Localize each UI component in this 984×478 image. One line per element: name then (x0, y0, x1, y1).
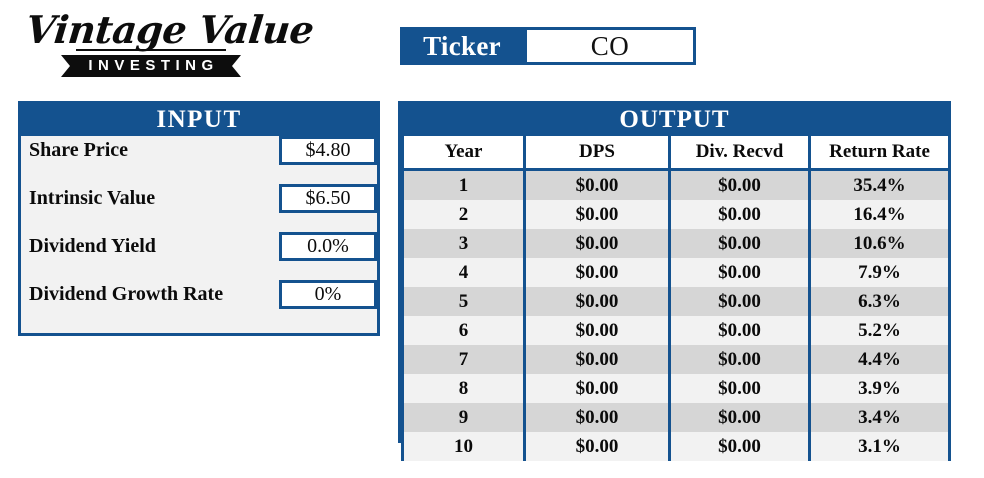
cell-dps: $0.00 (525, 229, 670, 258)
cell-div-recvd: $0.00 (670, 287, 810, 316)
table-row: 2$0.00$0.0016.4% (403, 200, 950, 229)
cell-dps: $0.00 (525, 374, 670, 403)
input-field-intrinsic-value[interactable]: $6.50 (279, 184, 377, 213)
cell-return-rate: 4.4% (810, 345, 950, 374)
logo-ribbon: INVESTING (26, 55, 276, 77)
cell-return-rate: 35.4% (810, 170, 950, 201)
cell-return-rate: 3.4% (810, 403, 950, 432)
table-row: 7$0.00$0.004.4% (403, 345, 950, 374)
cell-year: 4 (403, 258, 525, 287)
table-row: 1$0.00$0.0035.4% (403, 170, 950, 201)
input-row-dividend-yield: Dividend Yield 0.0% (21, 232, 377, 280)
cell-return-rate: 16.4% (810, 200, 950, 229)
input-label-dividend-growth-rate: Dividend Growth Rate (21, 280, 279, 309)
input-row-dividend-growth-rate: Dividend Growth Rate 0% (21, 280, 377, 328)
table-row: 10$0.00$0.003.1% (403, 432, 950, 461)
input-panel-title: INPUT (21, 104, 377, 136)
table-row: 3$0.00$0.0010.6% (403, 229, 950, 258)
cell-year: 8 (403, 374, 525, 403)
cell-dps: $0.00 (525, 200, 670, 229)
table-row: 6$0.00$0.005.2% (403, 316, 950, 345)
cell-year: 9 (403, 403, 525, 432)
input-field-dividend-yield[interactable]: 0.0% (279, 232, 377, 261)
cell-div-recvd: $0.00 (670, 345, 810, 374)
input-row-intrinsic-value: Intrinsic Value $6.50 (21, 184, 377, 232)
cell-dps: $0.00 (525, 287, 670, 316)
cell-dps: $0.00 (525, 316, 670, 345)
logo-ribbon-label: INVESTING (83, 55, 218, 77)
cell-div-recvd: $0.00 (670, 229, 810, 258)
cell-div-recvd: $0.00 (670, 200, 810, 229)
output-table: Year DPS Div. Recvd Return Rate 1$0.00$0… (401, 136, 951, 461)
input-label-intrinsic-value: Intrinsic Value (21, 184, 279, 213)
cell-return-rate: 6.3% (810, 287, 950, 316)
output-panel-title: OUTPUT (401, 104, 948, 136)
cell-year: 5 (403, 287, 525, 316)
table-row: 8$0.00$0.003.9% (403, 374, 950, 403)
cell-div-recvd: $0.00 (670, 258, 810, 287)
cell-div-recvd: $0.00 (670, 403, 810, 432)
column-header-div-recvd: Div. Recvd (670, 136, 810, 170)
input-label-dividend-yield: Dividend Yield (21, 232, 279, 261)
cell-year: 6 (403, 316, 525, 345)
cell-dps: $0.00 (525, 258, 670, 287)
cell-year: 10 (403, 432, 525, 461)
cell-year: 1 (403, 170, 525, 201)
cell-dps: $0.00 (525, 432, 670, 461)
column-header-year: Year (403, 136, 525, 170)
table-row: 9$0.00$0.003.4% (403, 403, 950, 432)
input-field-share-price[interactable]: $4.80 (279, 136, 377, 165)
input-panel: INPUT Share Price $4.80 Intrinsic Value … (18, 101, 380, 336)
cell-div-recvd: $0.00 (670, 170, 810, 201)
cell-div-recvd: $0.00 (670, 374, 810, 403)
ticker-input[interactable]: CO (524, 27, 696, 65)
input-row-share-price: Share Price $4.80 (21, 136, 377, 184)
output-panel: OUTPUT Year DPS Div. Recvd Return Rate 1… (398, 101, 951, 443)
logo-ribbon-banner: INVESTING (61, 55, 240, 77)
logo-wordmark: Vintage Value (24, 8, 279, 52)
cell-div-recvd: $0.00 (670, 316, 810, 345)
cell-return-rate: 7.9% (810, 258, 950, 287)
table-header-row: Year DPS Div. Recvd Return Rate (403, 136, 950, 170)
cell-return-rate: 3.1% (810, 432, 950, 461)
cell-return-rate: 3.9% (810, 374, 950, 403)
cell-dps: $0.00 (525, 170, 670, 201)
column-header-dps: DPS (525, 136, 670, 170)
cell-return-rate: 5.2% (810, 316, 950, 345)
input-label-share-price: Share Price (21, 136, 279, 165)
cell-year: 3 (403, 229, 525, 258)
ticker-label: Ticker (400, 27, 524, 65)
brand-logo: Vintage Value INVESTING (26, 8, 276, 80)
table-row: 5$0.00$0.006.3% (403, 287, 950, 316)
cell-return-rate: 10.6% (810, 229, 950, 258)
input-field-dividend-growth-rate[interactable]: 0% (279, 280, 377, 309)
column-header-return-rate: Return Rate (810, 136, 950, 170)
cell-dps: $0.00 (525, 403, 670, 432)
cell-year: 7 (403, 345, 525, 374)
ticker-field-group: Ticker CO (400, 27, 696, 65)
table-row: 4$0.00$0.007.9% (403, 258, 950, 287)
cell-year: 2 (403, 200, 525, 229)
cell-dps: $0.00 (525, 345, 670, 374)
cell-div-recvd: $0.00 (670, 432, 810, 461)
